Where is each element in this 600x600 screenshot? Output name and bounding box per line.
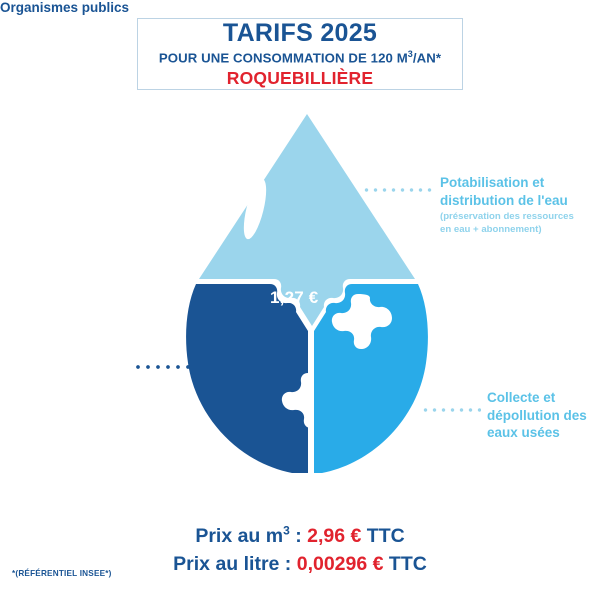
price-per-m3: Prix au m3 : 2,96 € TTC	[0, 522, 600, 550]
footnote: *(RÉFÉRENTIEL INSEE*)	[12, 569, 112, 578]
price-per-m3-suffix: TTC	[361, 525, 404, 547]
droplet-value-potabilisation: 1,27 €	[270, 288, 318, 308]
callout-collecte-line2: dépollution des	[487, 407, 587, 425]
price-per-litre-value: 0,00296 €	[297, 553, 384, 575]
price-per-m3-superscript: 3	[283, 524, 290, 538]
price-per-m3-label-before: Prix au m	[195, 525, 283, 547]
header-city: ROQUEBILLIÈRE	[227, 68, 374, 88]
droplet-chart: 1,27 € 0,55 € 1,14 €	[182, 108, 432, 478]
droplet-piece-organismes[interactable]	[186, 284, 308, 473]
callout-collecte-line1: Collecte et	[487, 389, 587, 407]
price-per-m3-value: 2,96 €	[307, 525, 361, 547]
callout-potabilisation-line2: distribution de l'eau	[440, 192, 574, 210]
leader-line-collecte	[421, 408, 481, 412]
callout-potabilisation: Potabilisation et distribution de l'eau …	[440, 174, 574, 237]
leader-line-potabilisation	[362, 188, 432, 192]
price-per-m3-separator: :	[290, 525, 307, 547]
header-box: TARIFS 2025 POUR UNE CONSOMMATION DE 120…	[137, 18, 463, 90]
callout-potabilisation-line1: Potabilisation et	[440, 174, 574, 192]
leader-line-organismes	[133, 365, 189, 369]
price-per-litre-label: Prix au litre :	[173, 553, 297, 575]
callout-potabilisation-sub1: (préservation des ressources	[440, 211, 574, 224]
infographic-canvas: TARIFS 2025 POUR UNE CONSOMMATION DE 120…	[0, 0, 600, 600]
header-subtitle-after: /AN*	[413, 51, 441, 66]
callout-organismes: Organismes publics	[0, 0, 600, 15]
callout-collecte-line3: eaux usées	[487, 424, 587, 442]
callout-collecte: Collecte et dépollution des eaux usées	[487, 389, 587, 442]
callout-potabilisation-sub2: en eau + abonnement)	[440, 224, 574, 237]
header-subtitle: POUR UNE CONSOMMATION DE 120 M3/AN*	[159, 49, 441, 67]
page-title: TARIFS 2025	[223, 20, 377, 46]
header-subtitle-before: POUR UNE CONSOMMATION DE 120 M	[159, 51, 408, 66]
price-per-litre-suffix: TTC	[383, 553, 426, 575]
droplet-value-collecte: 1,14 €	[325, 503, 373, 523]
droplet-value-organismes: 0,55 €	[201, 467, 249, 487]
